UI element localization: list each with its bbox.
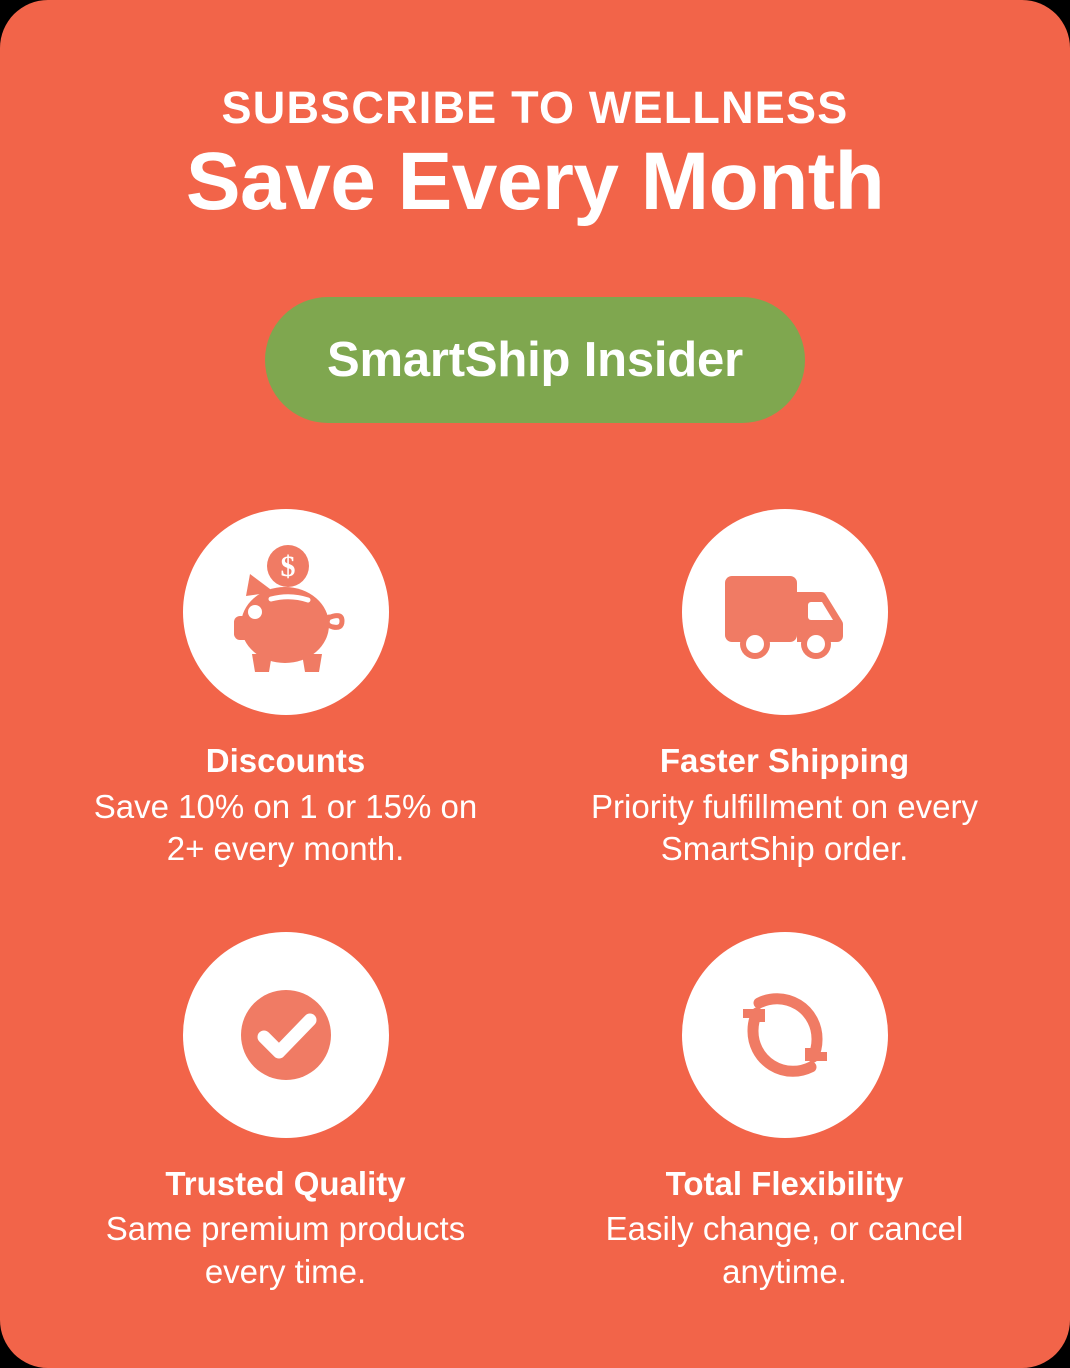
subscription-promo-card: SUBSCRIBE TO WELLNESS Save Every Month S… — [0, 0, 1070, 1368]
eyebrow-text: SUBSCRIBE TO WELLNESS — [0, 84, 1070, 131]
piggy-bank-icon: $ — [183, 509, 389, 715]
feature-item-faster-shipping: Faster Shipping Priority fulfillment on … — [535, 509, 1034, 870]
check-circle-icon — [183, 932, 389, 1138]
feature-item-discounts: $ Discounts — [36, 509, 535, 870]
header: SUBSCRIBE TO WELLNESS Save Every Month — [0, 0, 1070, 225]
feature-grid: $ Discounts — [0, 509, 1070, 1293]
feature-description: Priority fulfillment on every SmartShip … — [575, 786, 995, 870]
feature-title: Faster Shipping — [660, 743, 909, 779]
smartship-insider-button[interactable]: SmartShip Insider — [265, 297, 805, 423]
feature-description: Same premium products every time. — [76, 1208, 496, 1292]
feature-description: Save 10% on 1 or 15% on 2+ every month. — [76, 786, 496, 870]
svg-text:$: $ — [280, 550, 295, 583]
refresh-cycle-icon — [682, 932, 888, 1138]
feature-title: Discounts — [206, 743, 366, 779]
feature-item-total-flexibility: Total Flexibility Easily change, or canc… — [535, 932, 1034, 1293]
feature-item-trusted-quality: Trusted Quality Same premium products ev… — [36, 932, 535, 1293]
feature-title: Total Flexibility — [666, 1166, 904, 1202]
delivery-truck-icon — [682, 509, 888, 715]
cta-container: SmartShip Insider — [0, 297, 1070, 423]
feature-description: Easily change, or cancel anytime. — [575, 1208, 995, 1292]
feature-title: Trusted Quality — [165, 1166, 405, 1202]
page-title: Save Every Month — [0, 139, 1070, 225]
